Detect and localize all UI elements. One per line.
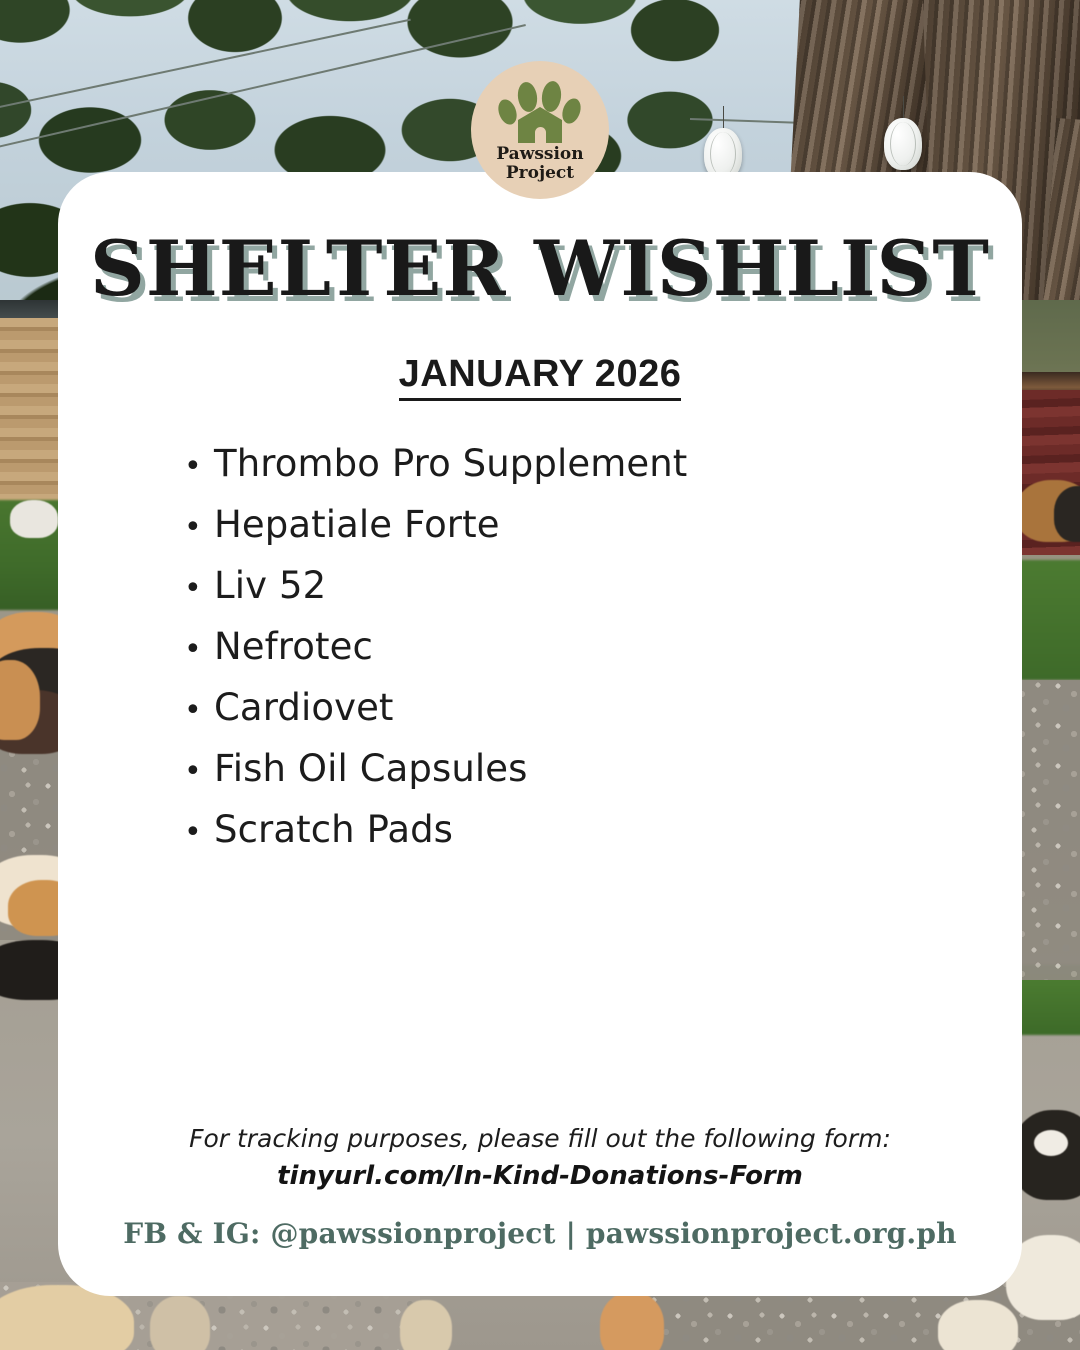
list-item-label: Nefrotec: [214, 618, 373, 676]
page-title: SHELTER WISHLIST: [58, 224, 1022, 313]
social-handles[interactable]: FB & IG: @pawssionproject | pawssionproj…: [58, 1217, 1022, 1250]
list-item-label: Hepatiale Forte: [214, 496, 500, 554]
list-item: • Nefrotec: [184, 618, 687, 679]
dog: [1034, 1130, 1068, 1156]
logo-wordmark: Pawssion Project: [496, 145, 583, 183]
dog: [938, 1300, 1018, 1350]
list-item-label: Liv 52: [214, 557, 326, 615]
lantern-rib: [890, 122, 916, 166]
donation-form-link[interactable]: tinyurl.com/In-Kind-Donations-Form: [58, 1161, 1022, 1191]
paw-toe: [516, 81, 539, 113]
wishlist-card: SHELTER WISHLIST JANUARY 2026 • Thrombo …: [58, 172, 1022, 1296]
list-item: • Liv 52: [184, 557, 687, 618]
paw-toe: [540, 80, 563, 113]
paw-toe: [495, 97, 520, 127]
bullet-icon: •: [184, 621, 214, 679]
dog: [600, 1292, 664, 1350]
list-item-label: Thrombo Pro Supplement: [214, 435, 687, 493]
logo-line-2: Project: [496, 164, 583, 183]
paw-house-icon: [497, 79, 583, 143]
list-item: • Hepatiale Forte: [184, 496, 687, 557]
pawssion-project-logo: Pawssion Project: [471, 61, 609, 199]
house-door: [535, 127, 546, 143]
tracking-note: For tracking purposes, please fill out t…: [58, 1124, 1022, 1153]
month-subtitle: JANUARY 2026: [58, 353, 1022, 396]
bullet-icon: •: [184, 499, 214, 557]
logo-line-1: Pawssion: [496, 145, 583, 164]
card-footer: For tracking purposes, please fill out t…: [58, 1124, 1022, 1250]
paw-toe: [559, 96, 584, 126]
list-item-label: Scratch Pads: [214, 801, 453, 859]
bullet-icon: •: [184, 438, 214, 496]
list-item: • Fish Oil Capsules: [184, 740, 687, 801]
dog: [150, 1296, 210, 1350]
month-subtitle-text: JANUARY 2026: [399, 353, 682, 401]
bullet-icon: •: [184, 682, 214, 740]
list-item-label: Fish Oil Capsules: [214, 740, 528, 798]
lantern-rib: [710, 132, 736, 176]
bullet-icon: •: [184, 743, 214, 801]
list-item: • Scratch Pads: [184, 801, 687, 862]
bullet-icon: •: [184, 560, 214, 618]
dog: [400, 1300, 452, 1350]
list-item-label: Cardiovet: [214, 679, 394, 737]
list-item: • Thrombo Pro Supplement: [184, 435, 687, 496]
list-item: • Cardiovet: [184, 679, 687, 740]
bullet-icon: •: [184, 804, 214, 862]
wishlist-items: • Thrombo Pro Supplement • Hepatiale For…: [184, 435, 687, 862]
hanging-lantern: [884, 118, 922, 170]
dog: [10, 500, 58, 538]
wishlist-poster: SHELTER WISHLIST JANUARY 2026 • Thrombo …: [0, 0, 1080, 1350]
